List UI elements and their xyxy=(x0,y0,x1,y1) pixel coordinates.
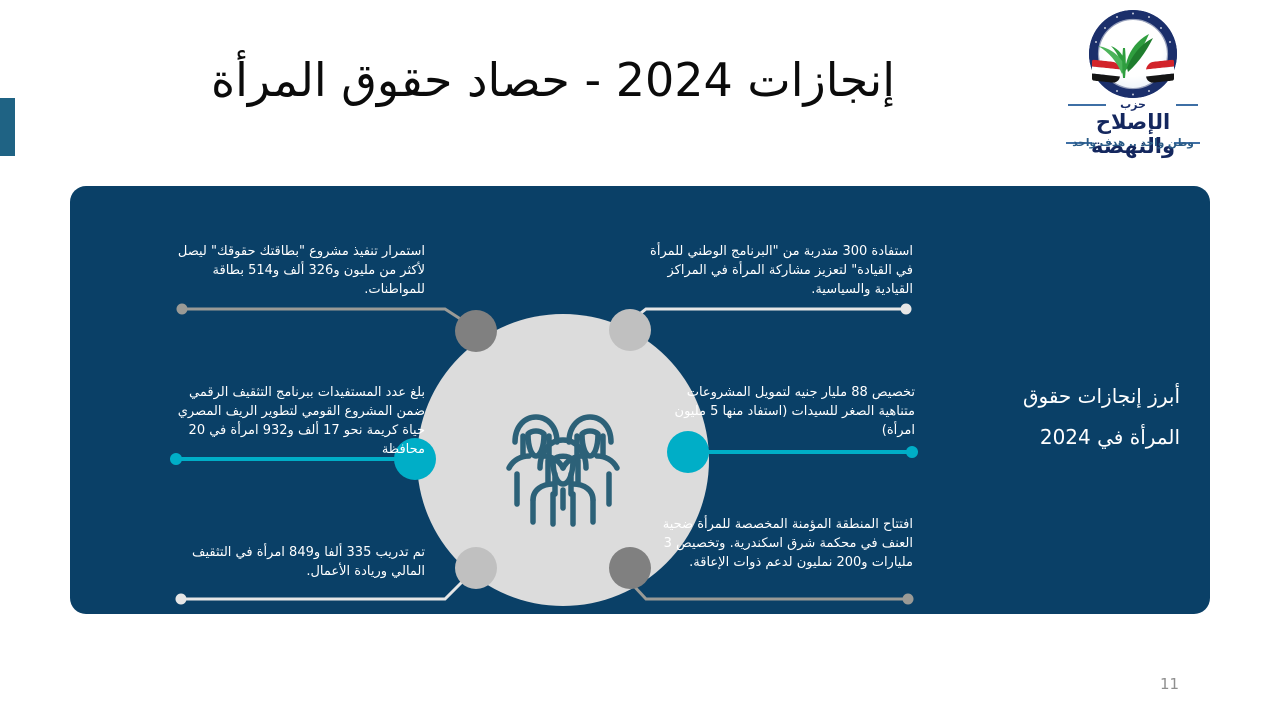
node-text-top-right: استفادة 300 متدربة من "البرنامج الوطني ل… xyxy=(648,243,913,300)
node-text-top-left: استمرار تنفيذ مشروع "بطاقتك حقوقك" ليصل … xyxy=(160,243,425,300)
logo-leaf-icon xyxy=(1089,18,1157,80)
node-text-middle-right: تخصيص 88 مليار جنيه لتمويل المشروعات متن… xyxy=(655,384,915,441)
node-text-middle-left: بلغ عدد المستفيدات ببرنامج التثقيف الرقم… xyxy=(160,384,425,459)
logo-tagline: وطن واحد .. هدف واحد xyxy=(1058,137,1208,149)
slide-root: إنجازات 2024 - حصاد حقوق المرأة xyxy=(0,0,1280,720)
page-title: إنجازات 2024 - حصاد حقوق المرأة xyxy=(95,52,895,110)
party-logo: حزب الإصلاح والنهضة وطن واحد .. هدف واحد xyxy=(1058,6,1208,162)
left-accent-bar xyxy=(0,98,15,156)
logo-word-main: الإصلاح والنهضة xyxy=(1058,110,1208,158)
node-text-bottom-right: افتتاح المنطقة المؤمنة المخصصة للمرأة ضح… xyxy=(650,516,913,573)
page-number: 11 xyxy=(1160,675,1179,693)
node-text-bottom-left: تم تدريب 335 ألفا و849 امرأة في التثقيف … xyxy=(170,544,425,582)
card-heading-line2: المرأة في 2024 xyxy=(950,417,1180,458)
group-of-women-icon xyxy=(487,382,639,534)
card-heading-line1: أبرز إنجازات حقوق xyxy=(950,376,1180,417)
card-heading: أبرز إنجازات حقوق المرأة في 2024 xyxy=(950,376,1180,458)
